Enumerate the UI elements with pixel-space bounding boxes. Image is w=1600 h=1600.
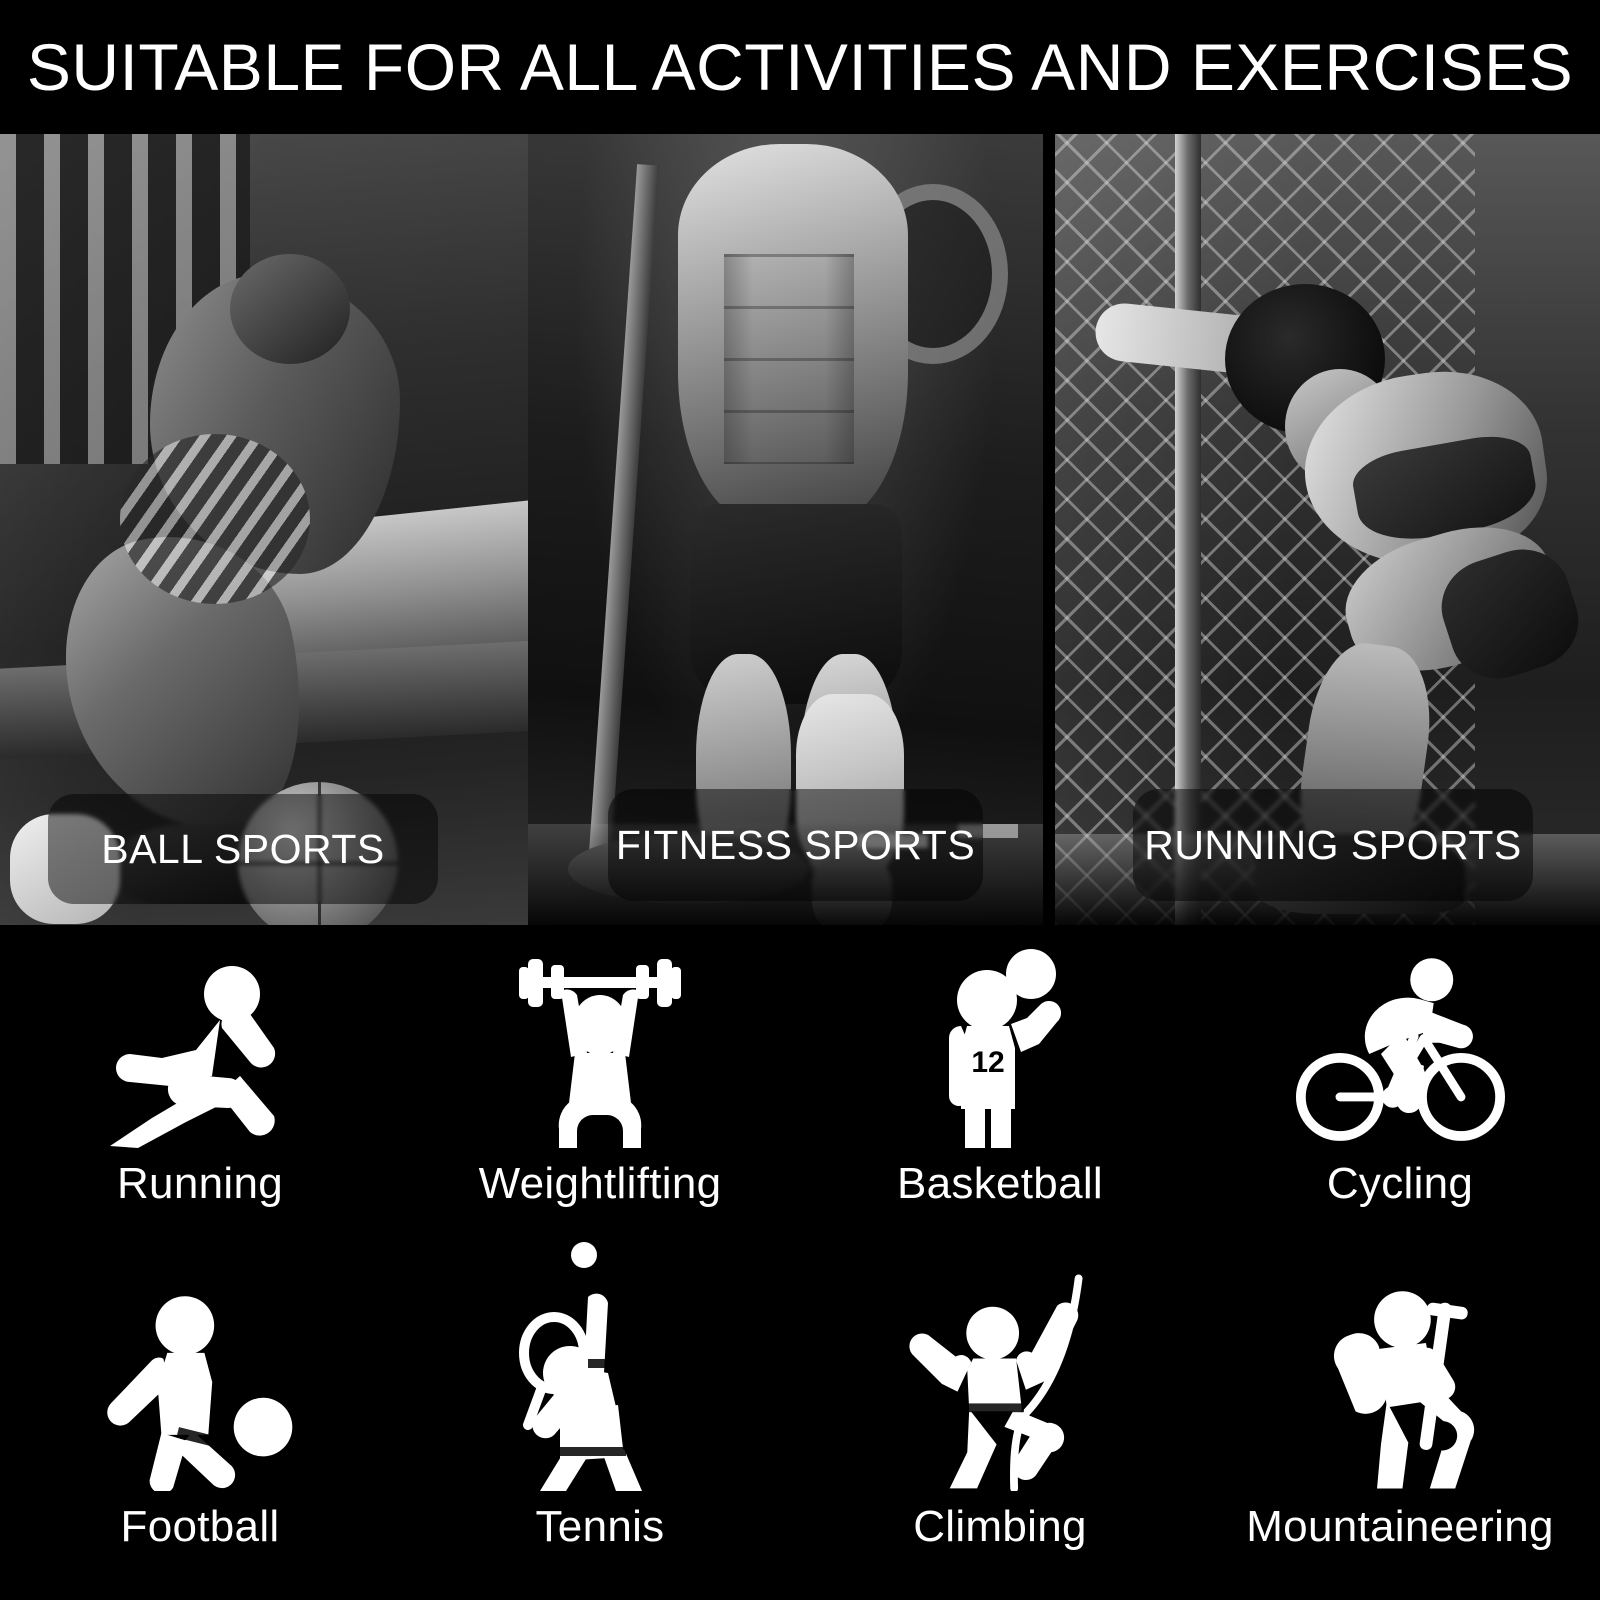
activity-item-football: Football <box>0 1265 400 1600</box>
activity-item-running: Running <box>0 930 400 1265</box>
photo-panel-ball-sports: BALL SPORTS <box>0 134 535 925</box>
activity-icon-grid: Running Weight <box>0 930 1600 1600</box>
title-band: SUITABLE FOR ALL ACTIVITIES AND EXERCISE… <box>0 0 1600 134</box>
activity-label-weightlifting: Weightlifting <box>479 1162 722 1206</box>
activity-item-mountaineering: Mountaineering <box>1200 1265 1600 1600</box>
jersey-number: 12 <box>971 1046 1004 1079</box>
basketball-icon: 12 <box>895 948 1105 1148</box>
activity-item-climbing: Climbing <box>800 1265 1200 1600</box>
photo-panel-fitness-sports: FITNESS SPORTS <box>528 134 1043 925</box>
activity-label-mountaineering: Mountaineering <box>1246 1505 1554 1549</box>
activity-item-cycling: Cycling <box>1200 930 1600 1265</box>
weightlifting-icon <box>495 948 705 1148</box>
photo-panel-running-sports: RUNNING SPORTS <box>1055 134 1600 925</box>
activity-label-running: Running <box>117 1162 283 1206</box>
activity-item-weightlifting: Weightlifting <box>400 930 800 1265</box>
product-infographic: SUITABLE FOR ALL ACTIVITIES AND EXERCISE… <box>0 0 1600 1600</box>
running-icon <box>95 948 305 1148</box>
football-icon <box>95 1291 305 1491</box>
climbing-icon <box>895 1291 1105 1491</box>
tennis-icon <box>495 1291 705 1491</box>
activity-label-climbing: Climbing <box>913 1505 1087 1549</box>
activity-item-tennis: Tennis <box>400 1265 800 1600</box>
activity-label-football: Football <box>121 1505 280 1549</box>
cycling-icon <box>1295 948 1505 1148</box>
activity-label-tennis: Tennis <box>536 1505 665 1549</box>
activity-label-cycling: Cycling <box>1327 1162 1473 1206</box>
activity-label-basketball: Basketball <box>897 1162 1103 1206</box>
page-title: SUITABLE FOR ALL ACTIVITIES AND EXERCISE… <box>27 34 1573 100</box>
photo-label-ball-sports: BALL SPORTS <box>48 794 438 904</box>
photo-label-fitness-sports: FITNESS SPORTS <box>608 789 983 901</box>
activity-item-basketball: 12 Basketball <box>800 930 1200 1265</box>
mountaineering-icon <box>1295 1291 1505 1491</box>
photo-band: BALL SPORTS FITNESS SPORTS <box>0 134 1600 925</box>
photo-label-running-sports: RUNNING SPORTS <box>1133 789 1533 901</box>
